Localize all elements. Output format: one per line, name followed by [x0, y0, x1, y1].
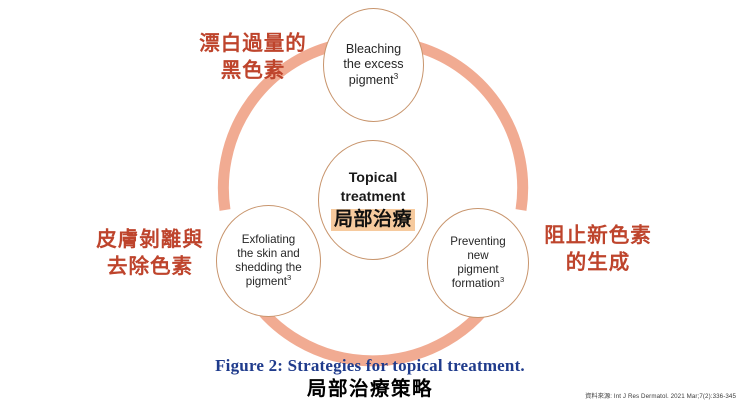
node-bleaching-text: Bleaching the excess pigment3 — [337, 42, 409, 88]
node-center-topical-treatment: Topical treatment 局部治療 — [318, 140, 428, 260]
node-exfoliating-line2: the skin and — [237, 247, 300, 260]
annotation-bleaching-line2: 黑色素 — [221, 59, 286, 82]
node-preventing-line2: new — [467, 249, 488, 262]
node-exfoliating: Exfoliating the skin and shedding the pi… — [216, 205, 321, 317]
node-bleaching-line3: pigment — [349, 73, 394, 87]
node-preventing-text: Preventing new pigment formation3 — [444, 235, 511, 292]
node-bleaching-superscript: 3 — [394, 70, 399, 80]
node-bleaching-line2: the excess — [343, 57, 403, 71]
figure-caption-english: Figure 2: Strategies for topical treatme… — [0, 356, 740, 376]
node-exfoliating-superscript: 3 — [287, 273, 291, 282]
cycle-diagram: Bleaching the excess pigment3 Exfoliatin… — [0, 0, 740, 350]
node-exfoliating-line4: pigment — [246, 275, 287, 288]
node-bleaching-line1: Bleaching — [346, 42, 401, 56]
node-preventing-line3: pigment — [457, 263, 498, 276]
annotation-preventing: 阻止新色素 的生成 — [524, 222, 672, 277]
node-preventing-line4: formation — [452, 277, 500, 290]
node-bleaching: Bleaching the excess pigment3 — [323, 8, 424, 122]
annotation-bleaching-line1: 漂白過量的 — [199, 32, 307, 55]
annotation-bleaching: 漂白過量的 黑色素 — [183, 30, 323, 85]
annotation-preventing-line1: 阻止新色素 — [544, 224, 652, 247]
node-preventing-superscript: 3 — [500, 275, 504, 284]
source-citation: 資料來源: Int J Res Dermatol. 2021 Mar;7(2):… — [585, 391, 736, 400]
annotation-preventing-line2: 的生成 — [566, 251, 631, 274]
center-title-chinese-highlight: 局部治療 — [331, 209, 415, 231]
node-exfoliating-line1: Exfoliating — [242, 233, 296, 246]
slide-canvas: Bleaching the excess pigment3 Exfoliatin… — [0, 0, 740, 416]
annotation-exfoliating: 皮膚剝離與 去除色素 — [76, 226, 224, 281]
center-title-line2: treatment — [341, 189, 406, 205]
annotation-exfoliating-line2: 去除色素 — [107, 255, 193, 278]
node-exfoliating-text: Exfoliating the skin and shedding the pi… — [229, 233, 307, 290]
annotation-exfoliating-line1: 皮膚剝離與 — [96, 228, 204, 251]
node-preventing-line1: Preventing — [450, 235, 505, 248]
node-center-text: Topical treatment 局部治療 — [325, 169, 421, 231]
node-preventing: Preventing new pigment formation3 — [427, 208, 529, 318]
node-exfoliating-line3: shedding the — [235, 261, 301, 274]
center-title-line1: Topical — [349, 170, 398, 186]
ring-arc-top-right — [418, 47, 523, 210]
